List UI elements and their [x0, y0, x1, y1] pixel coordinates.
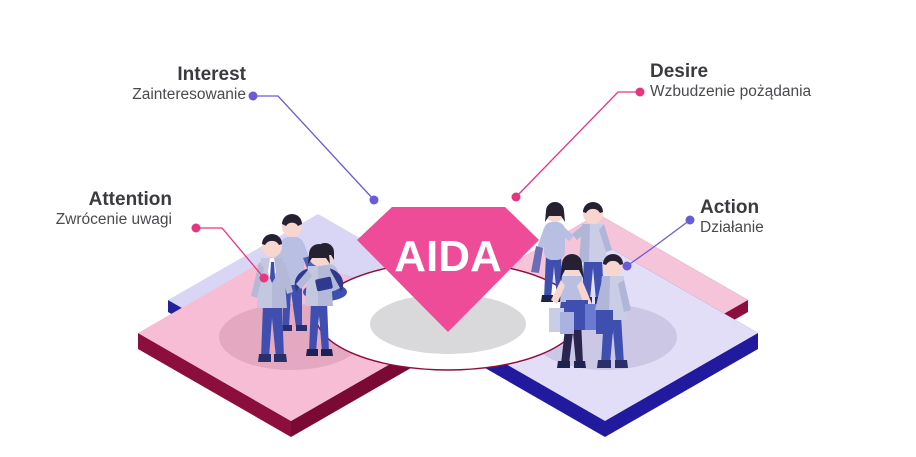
attention-connector-dot-target: [260, 274, 269, 283]
label-action-subtitle: Działanie: [700, 219, 916, 238]
desire-connector: [512, 88, 645, 202]
desire-connector-dot-target: [512, 193, 521, 202]
label-interest-title: Interest: [0, 64, 246, 86]
label-interest-subtitle: Zainteresowanie: [0, 86, 246, 105]
action-connector-dot-target: [623, 262, 632, 271]
interest-connector-line: [253, 96, 374, 200]
interest-connector-dot-target: [370, 196, 379, 205]
label-attention-subtitle: Zwrócenie uwagi: [0, 211, 172, 230]
label-interest: Interest Zainteresowanie: [0, 64, 246, 104]
desire-connector-line: [516, 92, 640, 197]
label-desire: Desire Wzbudzenie pożądania: [650, 61, 916, 101]
infographic-canvas: AIDA Attention Zwrócenie uwa: [0, 0, 916, 457]
attention-connector-dot-label: [192, 224, 201, 233]
label-attention: Attention Zwrócenie uwagi: [0, 189, 172, 229]
interest-connector-dot-label: [249, 92, 258, 101]
label-action-title: Action: [700, 197, 916, 219]
label-action: Action Działanie: [700, 197, 916, 237]
label-attention-title: Attention: [0, 189, 172, 211]
action-connector-dot-label: [686, 216, 695, 225]
interest-connector: [249, 92, 379, 205]
label-desire-title: Desire: [650, 61, 916, 83]
aida-badge-text: AIDA: [394, 232, 502, 281]
label-desire-subtitle: Wzbudzenie pożądania: [650, 83, 916, 102]
desire-connector-dot-label: [636, 88, 645, 97]
